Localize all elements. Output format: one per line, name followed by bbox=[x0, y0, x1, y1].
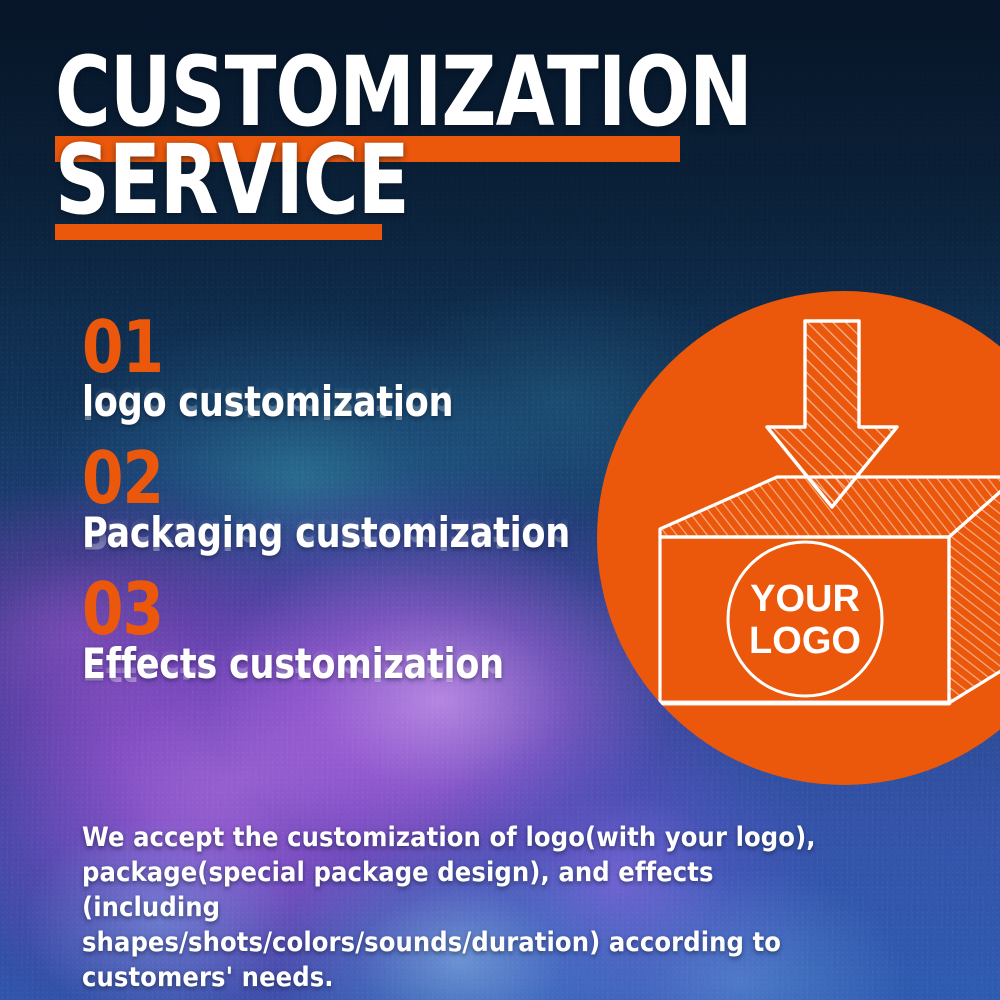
description-line-1: We accept the customization of logo(with… bbox=[82, 820, 852, 855]
your-logo-line-1: YOUR bbox=[750, 578, 860, 620]
headline-line-2-row: SERVICE bbox=[55, 134, 847, 226]
service-item-number: 02 bbox=[82, 449, 671, 508]
description-line-2: package(special package design), and eff… bbox=[82, 855, 852, 925]
service-item-label: Packaging customization bbox=[82, 512, 570, 554]
orange-circle-badge: YOUR LOGO bbox=[597, 291, 1000, 785]
service-item-label: Effects customization bbox=[82, 643, 504, 685]
headline-block: CUSTOMIZATION SERVICE bbox=[55, 46, 847, 226]
your-logo-line-2: LOGO bbox=[749, 620, 861, 662]
service-item-label: logo customization bbox=[82, 381, 453, 423]
poster-canvas: CUSTOMIZATION SERVICE 01 logo customizat… bbox=[0, 0, 1000, 1000]
your-logo-circle: YOUR LOGO bbox=[728, 542, 882, 696]
headline-line-2: SERVICE bbox=[55, 134, 752, 226]
description-line-4: customers' needs. bbox=[82, 960, 852, 995]
package-illustration: YOUR LOGO bbox=[597, 291, 1000, 785]
description-line-3: shapes/shots/colors/sounds/duration) acc… bbox=[82, 925, 852, 960]
service-item-number: 03 bbox=[82, 580, 671, 639]
description-paragraph: We accept the customization of logo(with… bbox=[82, 820, 852, 995]
service-item-number: 01 bbox=[82, 318, 671, 377]
